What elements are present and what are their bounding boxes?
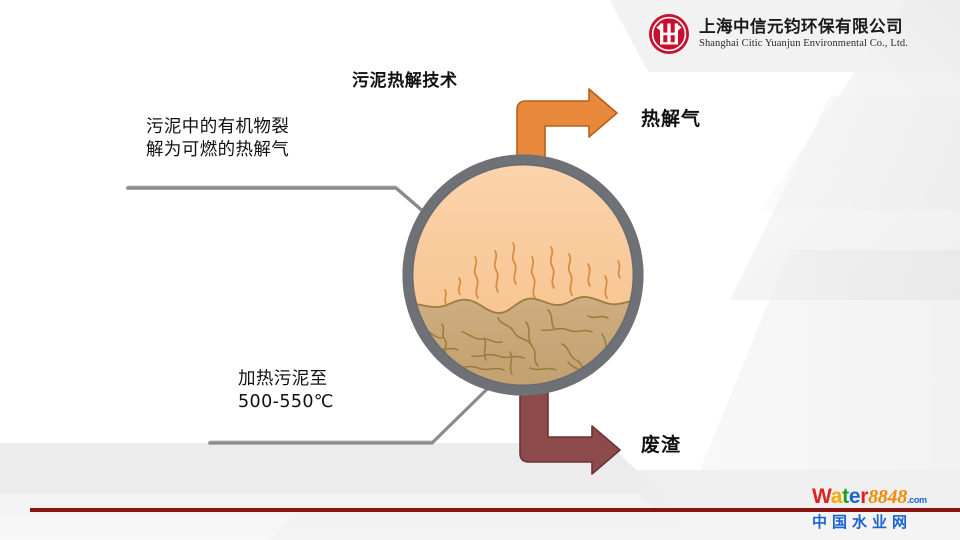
- elbow-arrow-down-right-icon: [520, 385, 620, 474]
- company-name-en: Shanghai Citic Yuanjun Environmental Co.…: [699, 39, 908, 50]
- watermark-letter-e: e: [849, 485, 860, 508]
- bg-shape-right-mid: [730, 96, 960, 300]
- slide-canvas: 上海中信元钧环保有限公司 Shanghai Citic Yuanjun Envi…: [0, 0, 960, 540]
- watermark-letter-r: r: [860, 485, 868, 508]
- company-logo-header: 上海中信元钧环保有限公司 Shanghai Citic Yuanjun Envi…: [648, 8, 952, 60]
- watermark-letter-w: W: [812, 485, 831, 508]
- watermark-letter-a: a: [831, 485, 842, 508]
- bg-shape-bottom-left: [0, 443, 660, 493]
- annotation-organics-cracking: 污泥中的有机物裂 解为可燃的热解气: [146, 116, 289, 162]
- pyrolysis-reactor-icon: [402, 152, 644, 398]
- company-name-cn: 上海中信元钧环保有限公司: [699, 19, 908, 36]
- bg-shape-right-lower: [700, 250, 960, 470]
- watermark-water8848: Water8848.com 中国水业网: [812, 486, 956, 534]
- watermark-letter-t: t: [842, 485, 849, 508]
- annotation-heating-sludge: 加热污泥至 500-550℃: [238, 368, 334, 414]
- citic-logo-icon: [648, 13, 690, 55]
- watermark-brand-cn: 中国水业网: [812, 511, 956, 532]
- page-title: 污泥热解技术: [352, 66, 458, 91]
- watermark-brand: Water8848.com: [812, 486, 956, 507]
- bg-shape-bottom-strip: [0, 493, 700, 540]
- watermark-number: 8848: [868, 486, 907, 508]
- output-label-pyrolysis-gas: 热解气: [641, 104, 701, 131]
- output-label-waste-residue: 废渣: [641, 430, 681, 457]
- company-name-block: 上海中信元钧环保有限公司 Shanghai Citic Yuanjun Envi…: [699, 19, 908, 49]
- watermark-tld: .com: [907, 495, 927, 505]
